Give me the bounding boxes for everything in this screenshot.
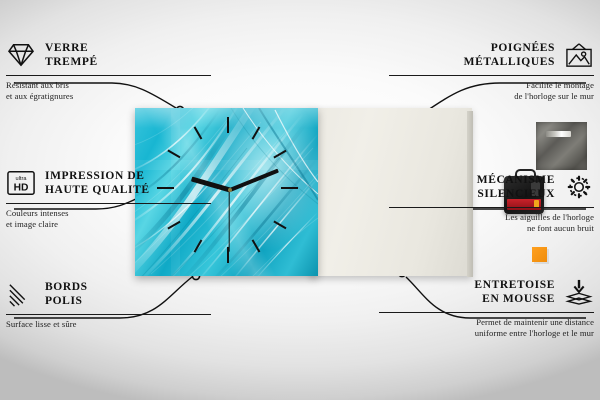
feature-bords-polis: BORDS POLIS Surface lisse et sûre: [6, 277, 211, 330]
hanger-slot: [546, 131, 571, 137]
feature-divider: [6, 75, 211, 76]
feature-impression-haute-qualite: ultra HD IMPRESSION DE HAUTE QUALITÉ Cou…: [6, 166, 211, 230]
feature-title: MÉCANISME SILENCIEUX: [477, 173, 555, 201]
metal-hanger-part: [536, 122, 587, 170]
clock-center-pin: [228, 188, 232, 192]
feature-subtitle: Couleurs intenses et image claire: [6, 208, 211, 230]
feature-header: POIGNÉES MÉTALLIQUES: [389, 38, 594, 72]
foam-spacer-icon: [564, 279, 594, 305]
feature-header: ultra HD IMPRESSION DE HAUTE QUALITÉ: [6, 166, 211, 200]
feature-header: BORDS POLIS: [6, 277, 211, 311]
feature-title: ENTRETOISE EN MOUSSE: [474, 278, 555, 306]
feature-divider: [389, 75, 594, 76]
feature-subtitle: Facilite le montage de l'horloge sur le …: [389, 80, 594, 102]
feature-subtitle: Résistant aux bris et aux égratignures: [6, 80, 211, 102]
infographic-canvas: VERRE TREMPÉ Résistant aux bris et aux é…: [0, 0, 600, 400]
feature-title: VERRE TREMPÉ: [45, 41, 98, 69]
feature-subtitle: Surface lisse et sûre: [6, 319, 211, 330]
feature-title: IMPRESSION DE HAUTE QUALITÉ: [45, 169, 150, 197]
foam-spacer-part: [532, 247, 547, 262]
feature-divider: [379, 312, 594, 313]
svg-text:ultra: ultra: [16, 176, 28, 182]
svg-text:HD: HD: [14, 182, 29, 193]
feature-title: BORDS POLIS: [45, 280, 88, 308]
feature-verre-trempe: VERRE TREMPÉ Résistant aux bris et aux é…: [6, 38, 211, 102]
polished-edges-icon: [6, 281, 36, 307]
second-hand: [228, 190, 229, 252]
feature-header: VERRE TREMPÉ: [6, 38, 211, 72]
feature-divider: [6, 314, 211, 315]
feature-divider: [6, 203, 211, 204]
feature-header: MÉCANISME SILENCIEUX: [389, 170, 594, 204]
feature-entretoise-en-mousse: ENTRETOISE EN MOUSSE Permet de maintenir…: [379, 275, 594, 339]
gear-icon: [564, 174, 594, 200]
feature-subtitle: Permet de maintenir une distance uniform…: [379, 317, 594, 339]
diamond-icon: [6, 42, 36, 68]
feature-mecanisme-silencieux: MÉCANISME SILENCIEUX Les aiguilles de l'…: [389, 170, 594, 234]
feature-header: ENTRETOISE EN MOUSSE: [379, 275, 594, 309]
minute-hand: [229, 169, 279, 192]
feature-divider: [389, 207, 594, 208]
feature-subtitle: Les aiguilles de l'horloge ne font aucun…: [389, 212, 594, 234]
feature-title: POIGNÉES MÉTALLIQUES: [464, 41, 555, 69]
ultra-hd-icon: ultra HD: [6, 169, 36, 197]
feature-poignees-metalliques: POIGNÉES MÉTALLIQUES Facilite le montage…: [389, 38, 594, 102]
wall-hanger-icon: [564, 42, 594, 68]
